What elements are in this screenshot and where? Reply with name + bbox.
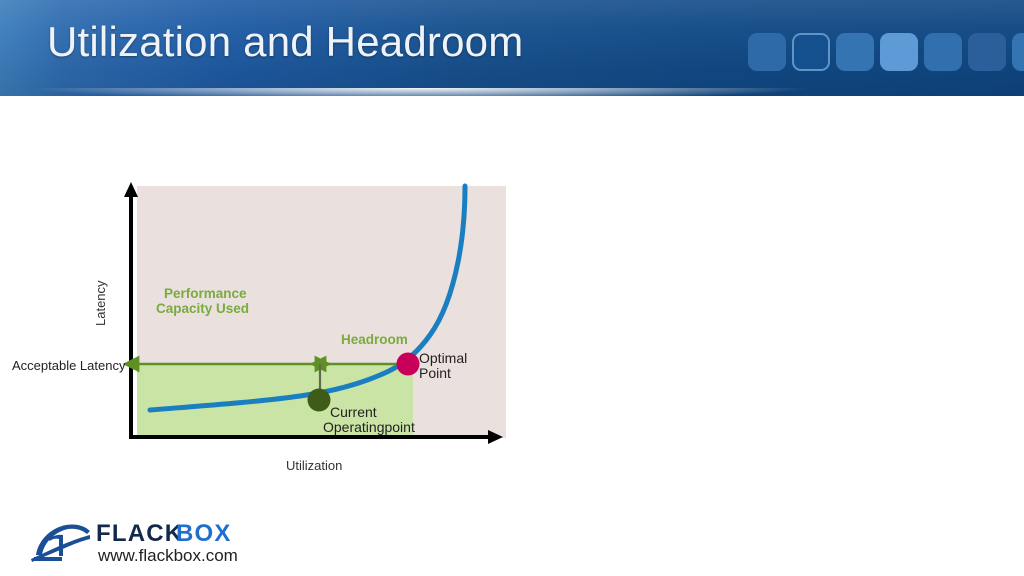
current-operating-point-label-line1: Current [330,404,377,420]
x-axis-label: Utilization [286,458,342,473]
optimal-point-label-line1: Optimal [419,350,467,366]
logo-word-light: BOX [176,520,232,547]
y-axis-label: Latency [93,280,108,326]
current-operating-point-marker[interactable] [308,389,331,412]
current-operating-point-label-line2: Operatingpoint [323,419,415,435]
optimal-point-label-line2: Point [419,365,451,381]
performance-capacity-used-label-line1: Performance [164,286,247,301]
bridge-arch-icon [31,524,90,562]
flackbox-logo[interactable]: FLACK BOX www.flackbox.com [28,511,238,569]
headroom-label: Headroom [341,332,408,347]
logo-url: www.flackbox.com [97,546,238,565]
acceptable-latency-label: Acceptable Latency [12,358,126,373]
utilization-headroom-chart: Performance Capacity Used Headroom Accep… [0,0,1024,576]
performance-capacity-used-label-line2: Capacity Used [156,301,249,316]
logo-word-dark: FLACK [96,520,183,547]
optimal-point-marker[interactable] [397,353,420,376]
